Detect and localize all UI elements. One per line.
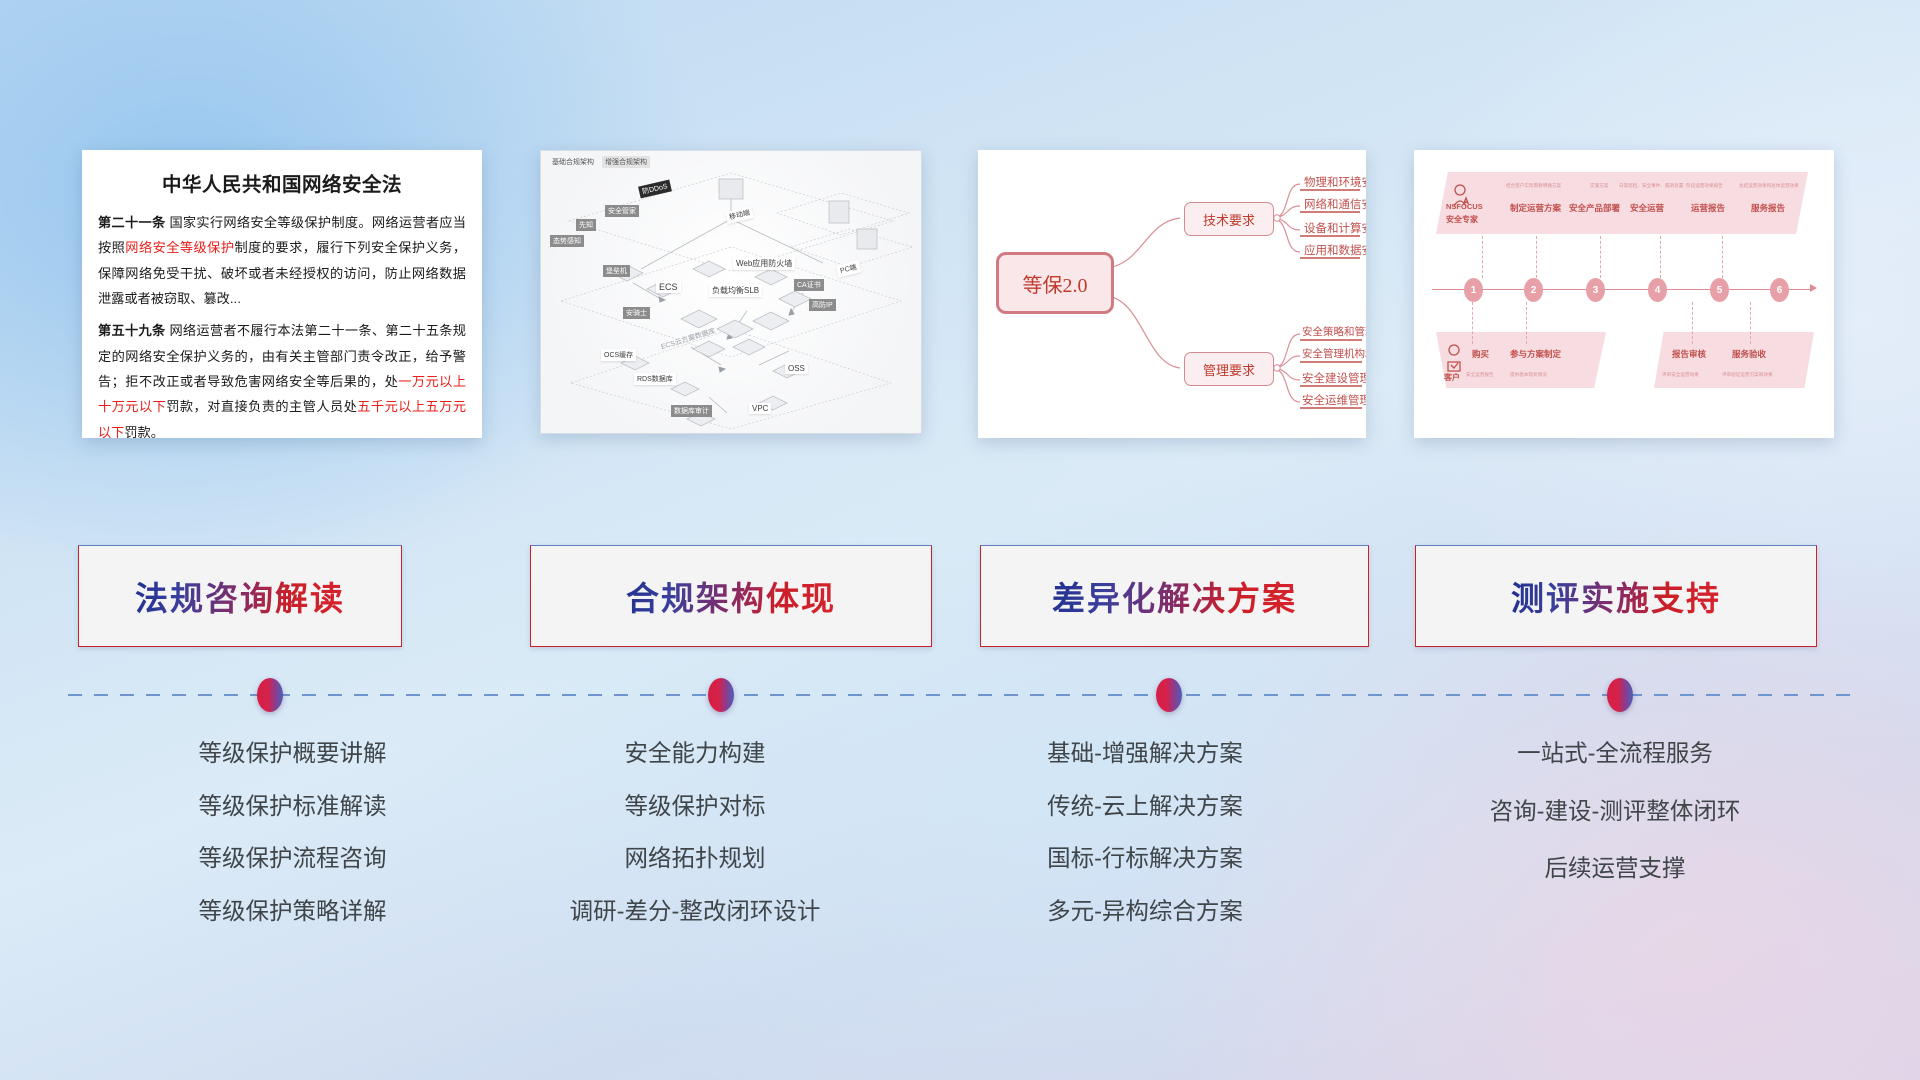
timeline-node-5[interactable]: 5 [1710, 278, 1729, 302]
mindmap-leaf-device: 设备和计算安全 [1302, 220, 1366, 237]
arch-label-waf: Web应用防火墙 [733, 257, 795, 270]
mindmap-branch-management[interactable]: 管理要求 [1184, 352, 1274, 386]
arch-label-ecs: ECS [656, 281, 681, 293]
timeline-node-6[interactable]: 6 [1770, 278, 1789, 302]
section-label-text-2: 合规架构体现 [626, 572, 836, 620]
bottom-left-step-1-title: 购买 [1472, 348, 1489, 360]
timeline-node-2[interactable]: 2 [1524, 278, 1543, 302]
detail-item: 后续运营支撑 [1370, 857, 1860, 881]
mindmap-diagram: 等保2.0 技术要求 管理要求 物理和环境安全 网络和通信安全 设备和计算安全 … [978, 150, 1366, 438]
card-mind-map[interactable]: 等保2.0 技术要求 管理要求 物理和环境安全 网络和通信安全 设备和计算安全 … [978, 150, 1366, 438]
mindmap-leaf-network: 网络和通信安全 [1302, 196, 1366, 213]
bottom-right-step-2-sub: 评审验证运营方案和效果 [1722, 372, 1773, 378]
detail-column-3: 基础-增强解决方案 传统-云上解决方案 国标-行标解决方案 多元-异构综合方案 [905, 742, 1385, 952]
article-59-label: 第五十九条 [98, 323, 165, 338]
bottom-right-step-1-title: 报告审核 [1672, 348, 1706, 360]
timeline-axis [1432, 289, 1812, 290]
slide-canvas: 中华人民共和国网络安全法 第二十一条 国家实行网络安全等级保护制度。网络运营者应… [0, 0, 1920, 1080]
mindmap-leaf-application: 应用和数据安全 [1302, 242, 1366, 259]
expert-role: 安全专家 [1446, 214, 1478, 225]
arch-label-security-steward: 安全管家 [605, 205, 639, 217]
top-step-5-title: 服务报告 [1751, 202, 1785, 214]
detail-item: 咨询-建设-测评整体闭环 [1370, 800, 1860, 824]
arch-label-slb: 负载均衡SLB [709, 284, 762, 297]
top-step-5-sub: 总结运营效果和总体运营效果 [1739, 183, 1799, 189]
timeline-marker-1[interactable] [257, 678, 283, 712]
law-text-body: 中华人民共和国网络安全法 第二十一条 国家实行网络安全等级保护制度。网络运营者应… [82, 150, 482, 438]
detail-item: 等级保护对标 [455, 795, 935, 819]
detail-item: 调研-差分-整改闭环设计 [455, 900, 935, 924]
timeline-marker-3[interactable] [1156, 678, 1182, 712]
bottom-left-step-2-title: 参与方案制定 [1510, 348, 1561, 360]
top-step-3-title: 安全运营 [1630, 202, 1664, 214]
mindmap-leaf-org: 安全管理机构和人员 [1300, 346, 1366, 362]
section-label-row: 法规咨询解读 合规架构体现 差异化解决方案 测评实施支持 [0, 545, 1920, 655]
mindmap-root-node[interactable]: 等保2.0 [996, 252, 1114, 314]
arch-label-bastion-host: 堡垒机 [603, 265, 630, 277]
arch-label-high-defense-ip: 高防IP [809, 299, 836, 311]
detail-item: 一站式-全流程服务 [1370, 742, 1860, 766]
arch-label-db-audit: 数据库审计 [671, 405, 712, 417]
detail-item: 网络拓扑规划 [455, 847, 935, 871]
timeline-arrow-icon [1810, 284, 1817, 292]
bottom-left-step-1-sub: 安全运营报告 [1466, 372, 1494, 378]
top-step-3-sub: 日常巡检、安全事件、漏洞处置 [1619, 183, 1683, 189]
article-21-label: 第二十一条 [98, 215, 165, 230]
bottom-right-step-1-sub: 评审安全运营效果 [1662, 372, 1699, 378]
thumbnail-cards-row: 中华人民共和国网络安全法 第二十一条 国家实行网络安全等级保护制度。网络运营者应… [0, 150, 1920, 440]
timeline-marker-2[interactable] [708, 678, 734, 712]
article-59-text-b: 罚款，对直接负责的主管人员处 [166, 399, 357, 414]
timeline-node-1[interactable]: 1 [1464, 278, 1483, 302]
law-article-59: 第五十九条 网络运营者不履行本法第二十一条、第二十五条规定的网络安全保护义务的，… [98, 318, 466, 438]
detail-column-2: 安全能力构建 等级保护对标 网络拓扑规划 调研-差分-整改闭环设计 [455, 742, 935, 952]
expert-name: NSFOCUS [1446, 202, 1483, 211]
top-step-2-title: 安全产品部署 [1569, 202, 1620, 214]
timeline-dashed-line [68, 694, 1858, 696]
top-step-2-sub: 实施方案 [1590, 183, 1608, 189]
section-label-text-3: 差异化解决方案 [1052, 572, 1297, 620]
detail-item: 基础-增强解决方案 [905, 742, 1385, 766]
section-label-text-4: 测评实施支持 [1511, 572, 1721, 620]
arch-label-ocs-cache: OCS缓存 [601, 349, 636, 361]
arch-label-rds: RDS数据库 [634, 373, 676, 385]
card-cybersecurity-law[interactable]: 中华人民共和国网络安全法 第二十一条 国家实行网络安全等级保护制度。网络运营者应… [82, 150, 482, 438]
law-title: 中华人民共和国网络安全法 [98, 168, 466, 197]
detail-column-4: 一站式-全流程服务 咨询-建设-测评整体闭环 后续运营支撑 [1370, 742, 1860, 915]
article-21-highlight: 网络安全等级保护 [125, 240, 234, 255]
detail-item: 安全能力构建 [455, 742, 935, 766]
bottom-right-step-2-title: 服务验收 [1732, 348, 1766, 360]
timeline-node-3[interactable]: 3 [1586, 278, 1605, 302]
section-label-text-1: 法规咨询解读 [135, 572, 345, 620]
article-59-text-c: 罚款。 [124, 425, 164, 438]
detail-item: 多元-异构综合方案 [905, 900, 1385, 924]
nsfocus-process-diagram: NSFOCUS 安全专家 客户 结合客户实际需要明确方案 制定运营方案 实施方案… [1414, 150, 1834, 438]
arch-label-ca-cert: CA证书 [794, 279, 824, 291]
section-label-box-1[interactable]: 法规咨询解读 [78, 545, 402, 647]
law-article-21: 第二十一条 国家实行网络安全等级保护制度。网络运营者应当按照网络安全等级保护制度… [98, 210, 466, 311]
top-step-4-title: 运营报告 [1691, 202, 1725, 214]
mindmap-leaf-operation: 安全运维管理 [1300, 392, 1366, 409]
arch-label-situational-awareness: 态势感知 [550, 235, 584, 247]
detail-item: 国标-行标解决方案 [905, 847, 1385, 871]
top-step-1-title: 制定运营方案 [1510, 202, 1561, 214]
timeline-marker-4[interactable] [1607, 678, 1633, 712]
section-label-box-4[interactable]: 测评实施支持 [1415, 545, 1817, 647]
card-nsfocus-timeline[interactable]: NSFOCUS 安全专家 客户 结合客户实际需要明确方案 制定运营方案 实施方案… [1414, 150, 1834, 438]
card-cloud-architecture[interactable]: 基础合规架构 增强合规架构 [540, 150, 922, 434]
section-label-box-2[interactable]: 合规架构体现 [530, 545, 932, 647]
architecture-diagram: 基础合规架构 增强合规架构 [541, 151, 921, 433]
top-step-1-sub: 结合客户实际需要明确方案 [1506, 183, 1561, 189]
arch-label-anqishi: 安骑士 [623, 307, 650, 319]
detail-item: 传统-云上解决方案 [905, 795, 1385, 819]
top-step-4-sub: 阶段运营效果报告 [1686, 183, 1723, 189]
section-label-box-3[interactable]: 差异化解决方案 [980, 545, 1369, 647]
arch-label-vpc: VPC [749, 403, 771, 414]
detail-columns: 等级保护概要讲解 等级保护标准解读 等级保护流程咨询 等级保护策略详解 安全能力… [0, 742, 1920, 972]
bottom-left-step-2-sub: 提供基本现状情况 [1510, 372, 1547, 378]
arch-label-xianzhi: 先知 [576, 219, 596, 231]
mindmap-branch-technical[interactable]: 技术要求 [1184, 202, 1274, 236]
arch-label-oss: OSS [785, 363, 808, 374]
mindmap-leaf-physical: 物理和环境安全 [1302, 174, 1366, 191]
mindmap-leaf-construction: 安全建设管理 [1300, 370, 1366, 387]
timeline-node-4[interactable]: 4 [1648, 278, 1667, 302]
customer-label: 客户 [1444, 372, 1460, 383]
mindmap-leaf-policy: 安全策略和管理制度 [1300, 324, 1366, 340]
